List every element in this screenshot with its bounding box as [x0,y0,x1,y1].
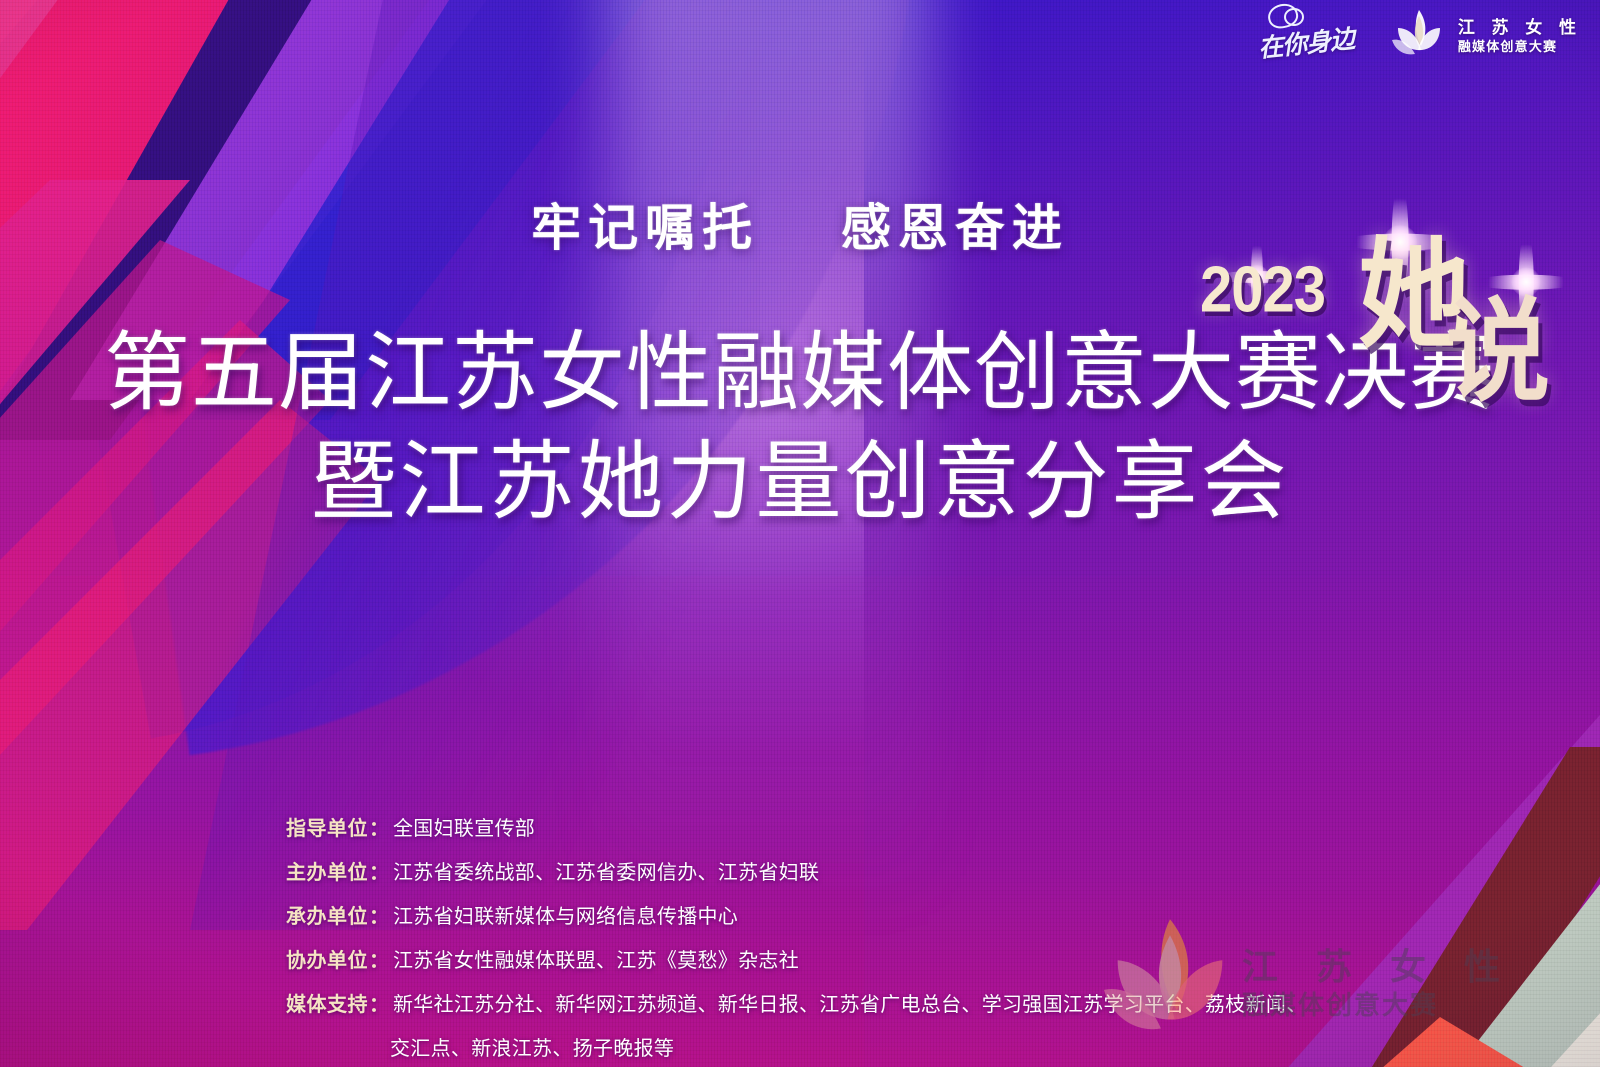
credit-colon: ： [369,856,389,885]
stage-backdrop-photo: 在你身边 江 苏 女 性 融媒体创意大赛 牢记嘱托 感恩奋进 第五届江苏女性融媒… [0,0,1600,1067]
emblem-year: 2023 [1200,252,1325,327]
credit-label: 协办单位 [286,944,368,973]
jiangsu-women-logo: 江 苏 女 性 融媒体创意大赛 [1390,6,1582,66]
main-title-line-2: 暨江苏她力量创意分享会 [0,432,1600,533]
credit-label: 主办单位 [286,856,368,885]
credit-value: 全国妇联宣传部 [393,812,535,841]
credit-label: 承办单位 [286,900,368,929]
credit-label: 媒体支持 [286,988,368,1017]
credit-colon: ： [369,988,389,1017]
credit-label: 指导单位 [286,812,368,841]
zai-ni-shen-bian-script-logo: 在你身边 [1254,4,1364,68]
credit-colon: ： [369,900,389,929]
logo-line-2: 融媒体创意大赛 [1458,39,1582,55]
top-right-logo-group: 在你身边 江 苏 女 性 融媒体创意大赛 [1254,4,1582,68]
slogan-right: 感恩奋进 [841,200,1069,256]
credit-colon: ： [369,812,389,841]
lotus-flower-icon [1390,6,1448,66]
logo-line-1: 江 苏 女 性 [1458,17,1582,38]
lotus-flower-watermark-icon [1104,913,1236,1053]
credit-row: 指导单位 ： 全国妇联宣传部 [286,812,1307,841]
script-logo-text: 在你身边 [1256,19,1355,65]
credit-continuation-value: 交汇点、新浪江苏、扬子晚报等 [390,1032,674,1061]
slogan-left: 牢记嘱托 [531,200,759,256]
bottom-right-watermark-logo: 江 苏 女 性 融媒体创意大赛 [1104,913,1514,1053]
credit-row: 主办单位 ： 江苏省委统战部、江苏省委网信办、江苏省妇联 [286,856,1307,885]
credit-value: 江苏省妇联新媒体与网络信息传播中心 [393,900,738,929]
2023-tashuo-emblem: 2023 她 说 [1188,196,1588,396]
credit-value: 江苏省女性融媒体联盟、江苏《莫愁》杂志社 [393,944,799,973]
watermark-line-1: 江 苏 女 性 [1242,944,1514,989]
credit-value: 江苏省委统战部、江苏省委网信办、江苏省妇联 [393,856,819,885]
emblem-char-shuo: 说 [1446,260,1550,423]
watermark-line-2: 融媒体创意大赛 [1242,989,1514,1022]
credit-colon: ： [369,944,389,973]
flower-bud-small-icon [1284,8,1304,26]
